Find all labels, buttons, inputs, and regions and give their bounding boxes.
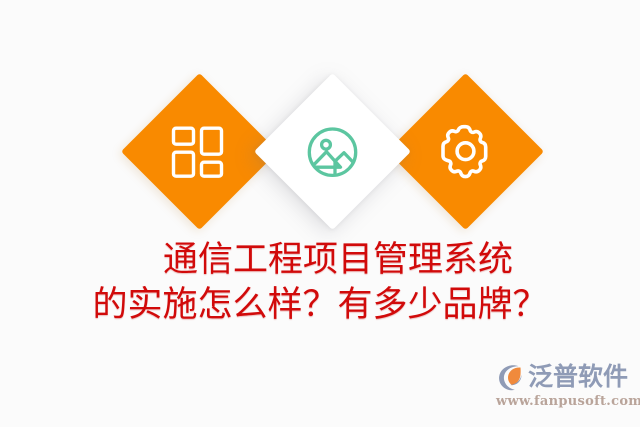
image-icon [302, 121, 364, 183]
brand-url: www.fanpusoft.com [496, 394, 632, 409]
brand-logo-row: 泛普软件 [496, 361, 632, 393]
headline-line-2: 的实施怎么样？有多少品牌？ [0, 283, 640, 328]
grid-icon [169, 121, 231, 183]
brand-name: 泛普软件 [528, 362, 628, 392]
fanpu-logo-icon [496, 362, 526, 392]
brand-logo[interactable]: 泛普软件 www.fanpusoft.com [496, 361, 632, 413]
diamond-icon-cluster [0, 0, 640, 250]
headline-line-1: 通信工程项目管理系统 [0, 238, 640, 283]
diamond-tile-right[interactable] [387, 73, 544, 230]
headline-text: 通信工程项目管理系统 的实施怎么样？有多少品牌？ [0, 238, 640, 328]
diamond-tile-center[interactable] [254, 73, 411, 230]
gear-icon [435, 121, 497, 183]
screenshot-canvas: 通信工程项目管理系统 的实施怎么样？有多少品牌？ 泛普软件 www.fanpus… [0, 0, 640, 427]
